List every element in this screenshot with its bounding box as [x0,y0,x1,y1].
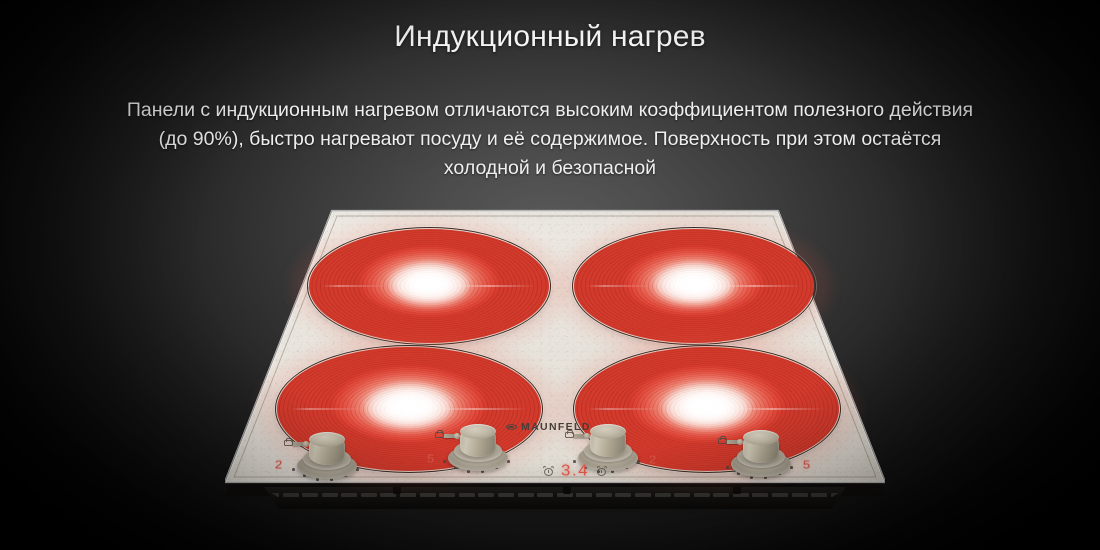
timer-display[interactable]: 3.4 [543,461,607,481]
brand-name: MAUNFELD [521,421,591,432]
knob-symbol-icon [565,432,574,438]
slide-canvas: Индукционный нагрев Панели с индукционны… [0,0,1100,550]
knob-cap-top [743,430,779,445]
knob-3-setting: 2 [649,453,656,466]
knob-pointer [443,434,458,438]
burner-hotspot [390,265,468,305]
knob-4-setting: 5 [803,458,810,471]
knob-symbol-icon [718,438,727,444]
burner-hotspot [664,386,750,430]
knob-symbol-icon [435,432,444,438]
description-line-3: холодной и безопасной [444,157,656,179]
burner-zone-rear-right[interactable] [572,227,816,345]
ventilation-tabs [263,487,847,494]
burner-hotspot [655,265,733,305]
cooktop-appliance: MAUNFELD 2 5 [225,205,885,525]
knob-cap-top [460,424,496,439]
page-description: Панели с индукционным нагревом отличаютс… [44,96,1056,183]
page-title: Индукционный нагрев [0,20,1100,54]
timer-icon-right [596,466,607,477]
knob-cap-top [590,424,626,439]
burner-zone-rear-left[interactable] [307,227,551,345]
burner-hotspot [366,386,452,430]
knob-pointer [292,442,307,446]
description-line-2: (до 90%), быстро нагревают посуду и её с… [159,128,942,150]
timer-icon-left [543,466,554,477]
knob-cap-top [309,432,345,447]
brand-logo: MAUNFELD [506,421,591,432]
knob-2-setting: 5 [427,452,434,465]
knob-pointer [726,440,741,444]
knob-pointer [573,434,588,438]
knob-symbol-icon [284,440,293,446]
description-line-1: Панели с индукционным нагревом отличаютс… [127,99,973,121]
oval-logo-icon [506,424,517,430]
display-value: 3.4 [561,462,589,480]
knob-1-setting: 2 [275,458,282,471]
